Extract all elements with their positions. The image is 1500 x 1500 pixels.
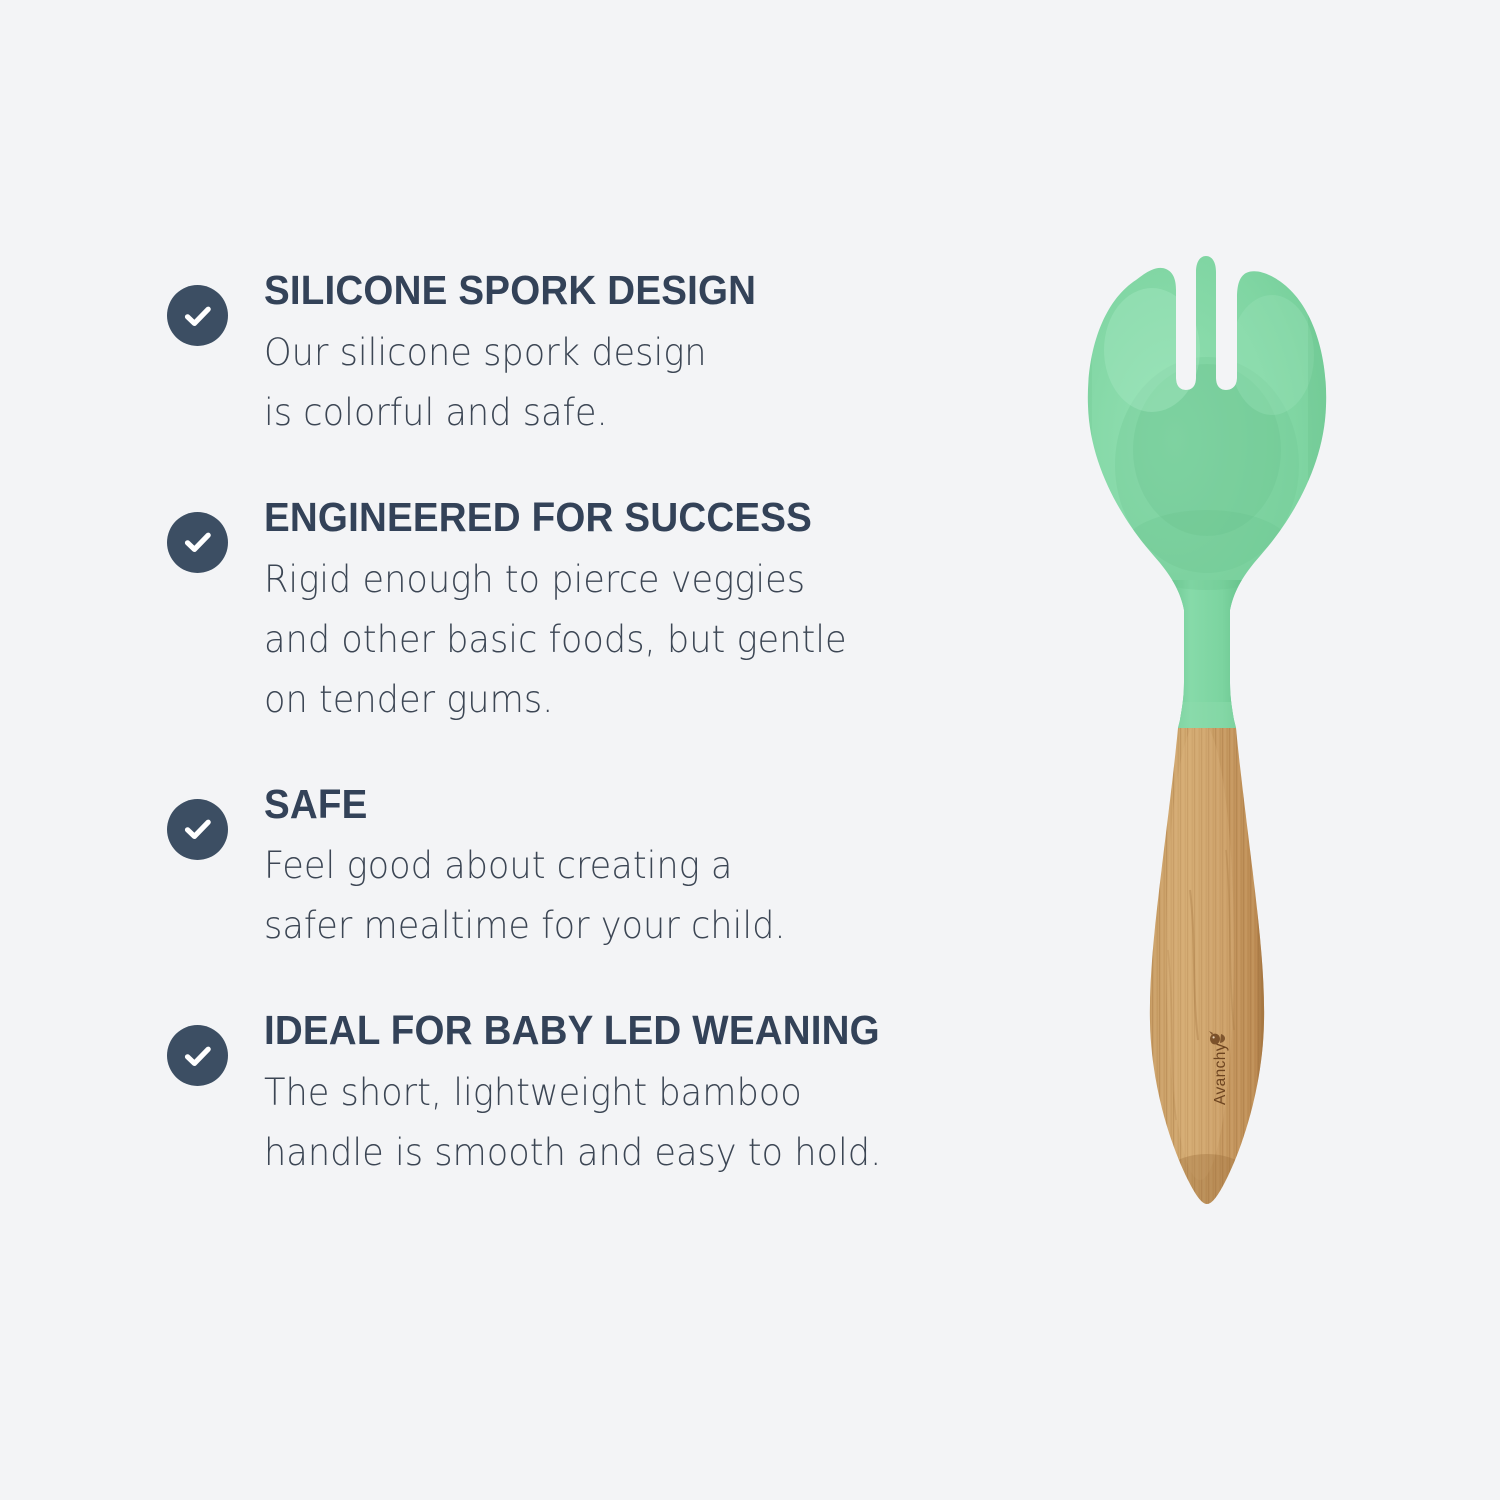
infographic-canvas: SILICONE SPORK DESIGN Our silicone spork… xyxy=(0,0,1500,1500)
feature-title: SILICONE SPORK DESIGN xyxy=(264,268,981,314)
spork-silicone-head xyxy=(1040,250,1360,750)
spork-bamboo-handle xyxy=(1130,720,1282,1240)
brand-name: Avanchy xyxy=(1212,1043,1229,1105)
feature-title: IDEAL FOR BABY LED WEANING xyxy=(264,1008,981,1054)
feature-item: IDEAL FOR BABY LED WEANING The short, li… xyxy=(167,1008,1027,1183)
feature-description-line: Rigid enough to pierce veggies xyxy=(264,550,989,610)
feature-description-line: Our silicone spork design xyxy=(264,323,989,383)
feature-description-line: handle is smooth and easy to hold. xyxy=(264,1123,989,1183)
feature-item: ENGINEERED FOR SUCCESS Rigid enough to p… xyxy=(167,495,1027,730)
feature-description: Our silicone spork design is colorful an… xyxy=(264,323,989,443)
feature-description: Feel good about creating a safer mealtim… xyxy=(264,836,989,956)
check-circle-icon xyxy=(167,799,228,860)
feature-item: SAFE Feel good about creating a safer me… xyxy=(167,782,1027,957)
check-circle-icon xyxy=(167,285,228,346)
feature-description-line: safer mealtime for your child. xyxy=(264,896,989,956)
feature-description: The short, lightweight bamboo handle is … xyxy=(264,1063,989,1183)
check-circle-icon xyxy=(167,512,228,573)
feature-description-line: is colorful and safe. xyxy=(264,383,989,443)
feature-description: Rigid enough to pierce veggies and other… xyxy=(264,550,989,730)
feature-list: SILICONE SPORK DESIGN Our silicone spork… xyxy=(167,268,1027,1183)
feature-description-line: on tender gums. xyxy=(264,670,989,730)
feature-description-line: and other basic foods, but gentle xyxy=(264,610,989,670)
feature-description-line: Feel good about creating a xyxy=(264,836,989,896)
feature-title: SAFE xyxy=(264,782,981,828)
feature-item: SILICONE SPORK DESIGN Our silicone spork… xyxy=(167,268,1027,443)
product-image: Avanchy xyxy=(1040,250,1360,1240)
feature-title: ENGINEERED FOR SUCCESS xyxy=(264,495,981,541)
feature-description-line: The short, lightweight bamboo xyxy=(264,1063,989,1123)
check-circle-icon xyxy=(167,1025,228,1086)
